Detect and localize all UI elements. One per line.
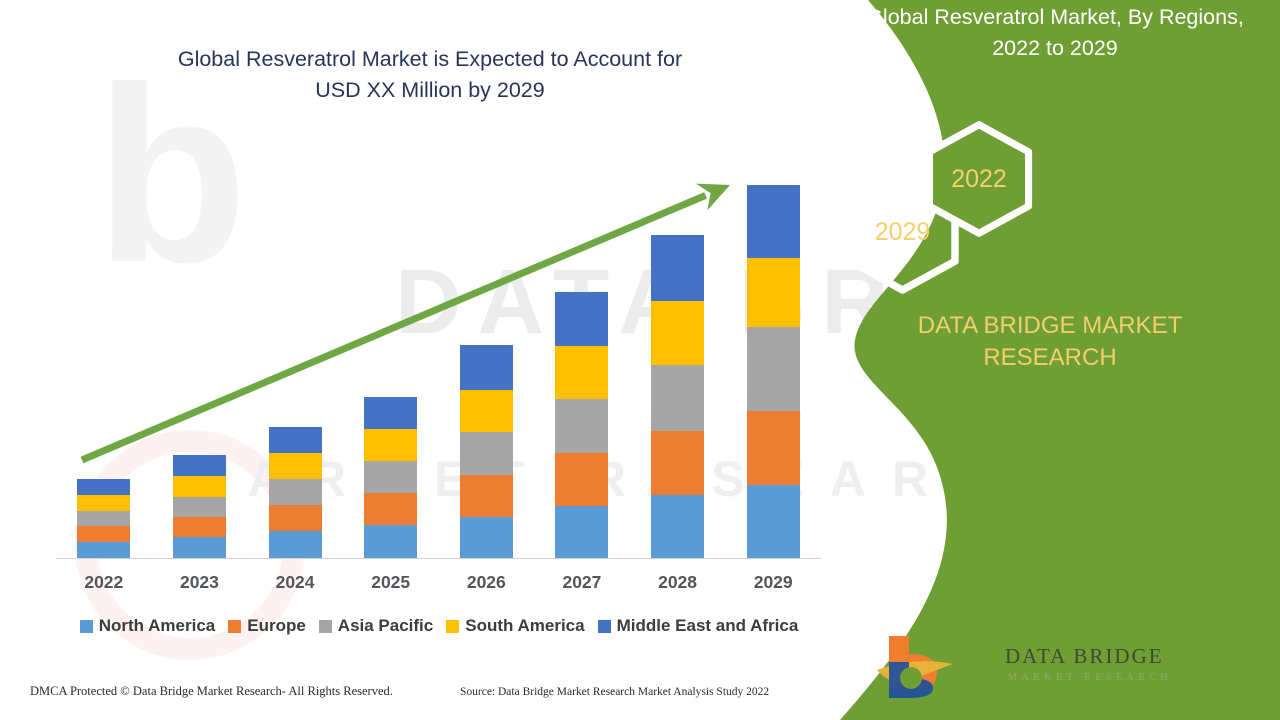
bar-segment: [364, 461, 417, 493]
hexagon-2022: 2022: [920, 120, 1038, 238]
bar-segment: [364, 397, 417, 429]
legend-item: Middle East and Africa: [598, 616, 799, 636]
bar-segment: [555, 506, 608, 558]
chart-plot-area: 20222023202420252026202720282029: [0, 0, 860, 720]
x-axis-line: [56, 558, 821, 559]
bar-segment: [651, 431, 704, 495]
panel-brand-line-2: RESEARCH: [830, 342, 1270, 374]
bar-segment: [269, 453, 322, 479]
legend-label: North America: [99, 616, 216, 636]
bar-group: [173, 455, 226, 558]
legend-label: Europe: [247, 616, 306, 636]
bar-group: [460, 345, 513, 558]
bar-segment: [364, 429, 417, 461]
x-axis-label: 2026: [451, 572, 521, 593]
bar-segment: [364, 525, 417, 558]
chart-legend: North AmericaEuropeAsia PacificSouth Ame…: [44, 616, 834, 636]
bar-group: [651, 235, 704, 558]
legend-label: Middle East and Africa: [617, 616, 799, 636]
bar-group: [269, 427, 322, 558]
x-axis-label: 2027: [547, 572, 617, 593]
legend-swatch: [446, 620, 459, 633]
hexagon-2029-label: 2029: [875, 218, 931, 247]
bar-segment: [747, 185, 800, 258]
legend-label: South America: [465, 616, 584, 636]
bar-segment: [173, 476, 226, 497]
bar-segment: [747, 485, 800, 558]
legend-swatch: [319, 620, 332, 633]
bar-segment: [269, 479, 322, 505]
x-axis-label: 2022: [69, 572, 139, 593]
bar-segment: [651, 365, 704, 431]
bar-segment: [747, 327, 800, 411]
bar-segment: [77, 542, 130, 558]
bar-segment: [460, 475, 513, 517]
logo-tagline: MARKET RESEARCH: [1008, 672, 1172, 683]
panel-title: Global Resveratrol Market, By Regions, 2…: [830, 2, 1280, 63]
bar-segment: [460, 345, 513, 390]
x-axis-label: 2028: [643, 572, 713, 593]
x-axis-label: 2029: [738, 572, 808, 593]
bar-segment: [269, 505, 322, 531]
legend-item: Asia Pacific: [319, 616, 433, 636]
hexagon-2022-label: 2022: [951, 165, 1007, 194]
bar-segment: [555, 292, 608, 346]
legend-label: Asia Pacific: [338, 616, 433, 636]
panel-brand-line-1: DATA BRIDGE MARKET: [830, 310, 1270, 342]
bar-segment: [651, 301, 704, 365]
legend-swatch: [598, 620, 611, 633]
x-axis-label: 2023: [164, 572, 234, 593]
bar-group: [364, 397, 417, 558]
bar-segment: [77, 526, 130, 542]
bar-segment: [747, 258, 800, 327]
bar-segment: [460, 390, 513, 432]
bar-segment: [555, 346, 608, 399]
panel-title-line-2: 2022 to 2029: [830, 33, 1280, 64]
bar-segment: [269, 427, 322, 453]
green-side-panel: Global Resveratrol Market, By Regions, 2…: [820, 0, 1280, 720]
bar-series-container: [56, 120, 821, 558]
legend-item: South America: [446, 616, 584, 636]
panel-brand-text: DATA BRIDGE MARKET RESEARCH: [830, 310, 1270, 375]
bar-segment: [651, 495, 704, 558]
bar-segment: [364, 493, 417, 525]
bar-segment: [555, 399, 608, 453]
legend-swatch: [80, 620, 93, 633]
bar-segment: [77, 511, 130, 526]
logo-wordmark: DATA BRIDGE: [1005, 644, 1164, 669]
copyright-text: DMCA Protected © Data Bridge Market Rese…: [30, 684, 393, 699]
bar-group: [555, 292, 608, 558]
bar-segment: [651, 235, 704, 301]
green-panel-content: Global Resveratrol Market, By Regions, 2…: [820, 0, 1280, 720]
bar-segment: [173, 517, 226, 537]
bar-segment: [77, 479, 130, 495]
x-axis-label: 2024: [260, 572, 330, 593]
bar-segment: [173, 537, 226, 558]
x-axis-label: 2025: [356, 572, 426, 593]
bar-segment: [460, 432, 513, 475]
bar-segment: [269, 531, 322, 558]
bar-segment: [77, 495, 130, 511]
legend-item: Europe: [228, 616, 306, 636]
bar-group: [77, 479, 130, 558]
bar-segment: [555, 453, 608, 506]
bar-group: [747, 185, 800, 558]
infographic-canvas: b DATA BRIDGE MARKET RESEARCH Global Res…: [0, 0, 1280, 720]
bar-segment: [747, 411, 800, 485]
bar-segment: [173, 497, 226, 517]
panel-title-line-1: Global Resveratrol Market, By Regions,: [830, 2, 1280, 33]
source-text: Source: Data Bridge Market Research Mark…: [460, 686, 769, 698]
bar-segment: [460, 517, 513, 558]
bar-segment: [173, 455, 226, 476]
legend-swatch: [228, 620, 241, 633]
legend-item: North America: [80, 616, 216, 636]
